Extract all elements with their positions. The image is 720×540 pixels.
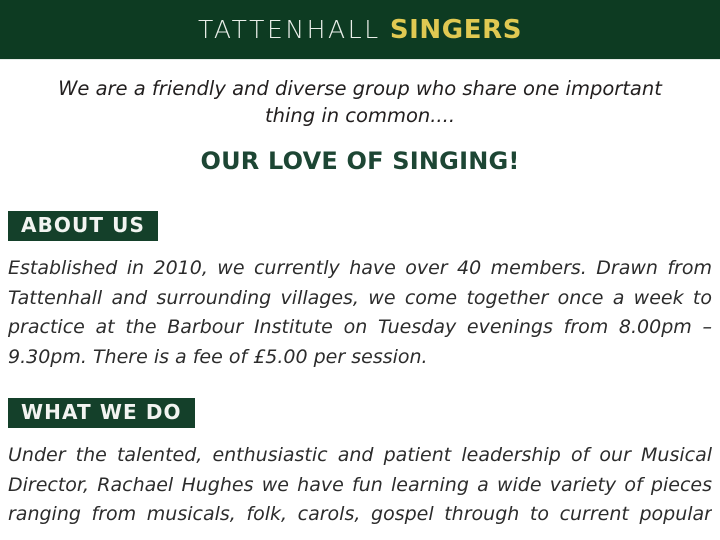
site-header: TATTENHALL SINGERS: [0, 0, 720, 60]
section-heading-what-we-do: WHAT WE DO: [8, 398, 195, 428]
section-body-what-we-do: Under the talented, enthusiastic and pat…: [8, 441, 712, 533]
site-logo[interactable]: TATTENHALL SINGERS: [198, 15, 522, 45]
intro-block: We are a friendly and diverse group who …: [0, 60, 720, 175]
intro-lede-text: We are a friendly and diverse group who …: [56, 75, 664, 129]
section-what-we-do: WHAT WE DO Under the talented, enthusias…: [0, 398, 720, 533]
section-heading-about-us: ABOUT US: [8, 211, 158, 241]
brand-name-secondary: SINGERS: [390, 15, 522, 45]
intro-tagline-text: OUR LOVE OF SINGING!: [56, 147, 664, 175]
brand-name-primary: TATTENHALL: [198, 15, 381, 44]
section-about-us: ABOUT US Established in 2010, we current…: [0, 211, 720, 372]
page-root: TATTENHALL SINGERS We are a friendly and…: [0, 0, 720, 540]
section-body-about-us: Established in 2010, we currently have o…: [8, 254, 712, 372]
